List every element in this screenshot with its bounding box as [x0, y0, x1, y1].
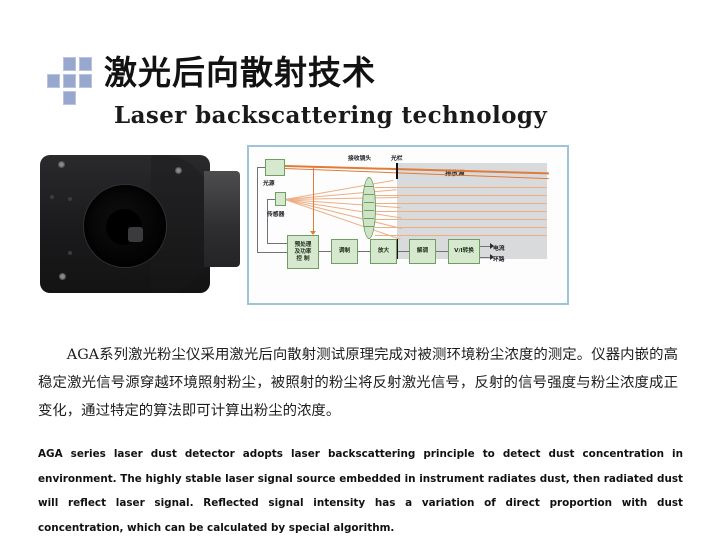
wire [397, 251, 409, 252]
wire [436, 251, 448, 252]
receiving-lens-label: 接收镜头 [348, 153, 371, 162]
diagram-box-sensor [275, 192, 286, 206]
diagram-box-amplification: 放大 [370, 239, 397, 264]
aperture-label: 光栏 [391, 153, 403, 162]
aperture-bar [396, 163, 398, 179]
wire [358, 251, 370, 252]
optical-schematic-diagram: 排放源 [247, 145, 569, 305]
page-title-english: Laser backscattering technology [114, 102, 547, 129]
output-label-line1: 电流 [493, 243, 505, 252]
logo-cell [79, 74, 92, 88]
faceplate-hole-icon [68, 197, 72, 201]
diagram-box-preprocess-power-control: 预处理 及功率 控 制 [287, 235, 319, 269]
mount-screw-icon [175, 167, 182, 174]
sensor-bore-element [128, 227, 143, 242]
diagram-box-modulation: 调制 [331, 239, 358, 264]
collimated-ray [375, 219, 547, 220]
logo-cell [63, 74, 76, 88]
logo-cell [79, 57, 92, 71]
description-paragraph-english: AGA series laser dust detector adopts la… [38, 442, 683, 540]
collimated-ray [375, 203, 547, 204]
scatter-ray [285, 199, 402, 218]
wire [267, 199, 268, 243]
sensor-rear-barrel [204, 171, 240, 267]
page-title-chinese: 激光后向散射技术 [104, 52, 376, 94]
collimated-ray [375, 227, 547, 228]
diagram-box-demodulation: 解调 [409, 239, 436, 264]
collimated-ray [375, 211, 547, 212]
mount-screw-icon [59, 273, 66, 280]
logo-cell [47, 91, 60, 105]
square-grid-logo [47, 57, 93, 105]
laser-feedback-line [313, 166, 314, 232]
wire [257, 252, 288, 253]
mount-screw-icon [58, 161, 65, 168]
faceplate-hole-icon [68, 251, 72, 255]
page-header: 激光后向散射技术 Laser backscattering technology [0, 24, 715, 120]
logo-cell [63, 91, 76, 105]
sensor-label: 传感器 [267, 209, 284, 218]
product-photo [32, 147, 244, 302]
logo-cell [47, 57, 60, 71]
description-paragraph-chinese: AGA系列激光粉尘仪采用激光后向散射测试原理完成对被测环境粉尘浓度的测定。仪器内… [38, 341, 678, 425]
logo-cell [47, 74, 60, 88]
output-label-line2: 环路 [493, 254, 505, 263]
collimated-ray [375, 235, 547, 236]
wire [319, 251, 331, 252]
collimated-ray [375, 195, 547, 196]
light-source-label: 光源 [263, 178, 275, 187]
logo-cell [79, 91, 92, 105]
diagram-box-vi-conversion: V/I转换 [448, 239, 480, 264]
collimated-ray [375, 187, 547, 188]
wire [257, 167, 258, 253]
diagram-box-light-source [265, 159, 285, 176]
faceplate-hole-icon [50, 195, 54, 199]
media-row: 排放源 [0, 145, 715, 310]
wire [267, 243, 288, 244]
receiving-lens [362, 177, 376, 239]
logo-cell [63, 57, 76, 71]
